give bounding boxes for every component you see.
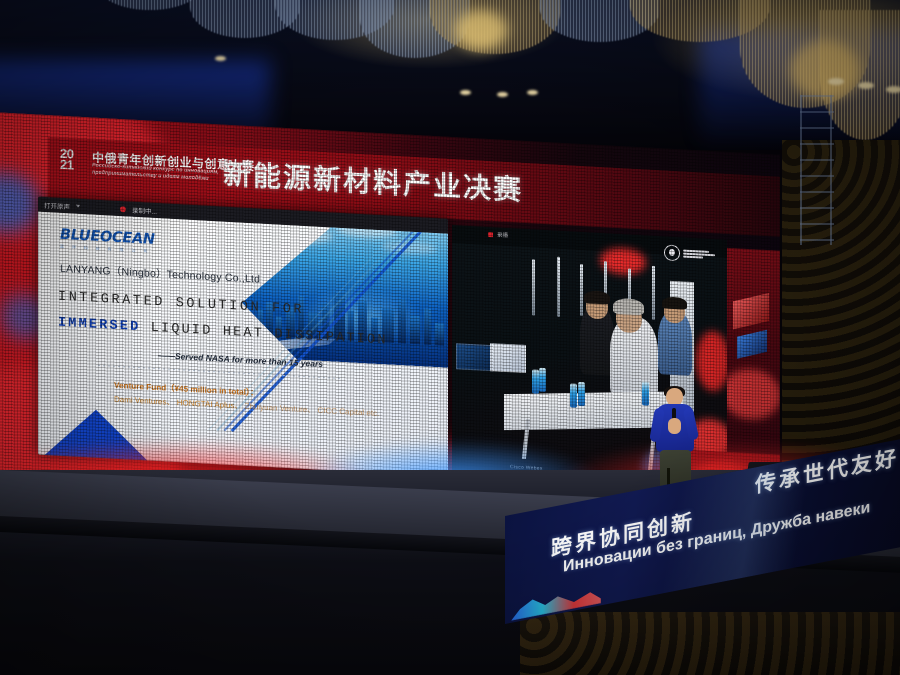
presentation-slide: BLUEOCEAN 蓝 洋 科 技 有 限 公 司 LANYANG（Ningbo…	[38, 212, 448, 477]
bluocean-logo: BLUEOCEAN 蓝 洋 科 技 有 限 公 司	[60, 227, 155, 255]
chevron-down-icon[interactable]	[76, 205, 80, 208]
investors-primary: Dami Ventures、 HONGTAI Aplus、	[114, 395, 242, 411]
feed-thumbnail	[456, 343, 492, 371]
banner-year: 2021	[60, 148, 73, 171]
company-name: LANYANG（Ningbo）Technology Co.,Ltd	[60, 261, 260, 287]
event-emblem-icon	[664, 245, 715, 264]
slide-title-highlight: IMMERSED	[58, 316, 140, 335]
meeting-window: 打开原声 录制中...	[38, 197, 448, 477]
presenter-hands	[668, 418, 681, 434]
lighting-truss	[800, 95, 834, 245]
feed-recording-icon	[488, 232, 493, 237]
floor-carpet	[520, 612, 900, 675]
recording-indicator-icon	[120, 206, 126, 212]
audio-toggle-label[interactable]: 打开原声	[44, 199, 70, 210]
chandelier-glow	[455, 10, 507, 50]
banner-session-title: 新能源新材料产业决赛	[223, 153, 523, 209]
conference-stage-photo: 2021 中俄青年创新创业与创意大赛 Российско-китайский к…	[0, 0, 900, 675]
recording-label: 录制中...	[132, 204, 157, 215]
investors-secondary: Zhuiyuan Venture、 CICC Capital etc.	[242, 402, 379, 418]
feed-thumbnail	[490, 343, 526, 373]
feed-recording-label: 录播	[497, 230, 508, 239]
